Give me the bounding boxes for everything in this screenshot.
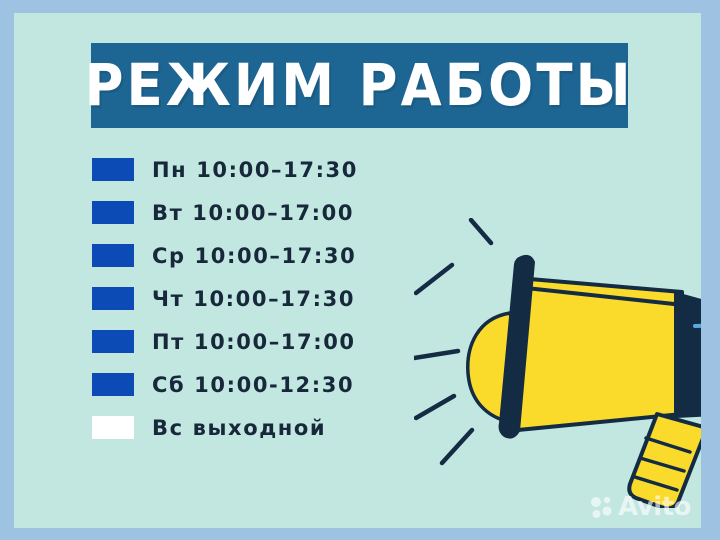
schedule-list: Пн 10:00–17:30 Вт 10:00–17:00 Ср 10:00–1… <box>92 148 422 449</box>
list-item: Пт 10:00–17:00 <box>92 320 422 363</box>
avito-watermark: Avito <box>590 494 691 520</box>
poster: РЕЖИМ РАБОТЫ Пн 10:00–17:30 Вт 10:00–17:… <box>0 0 720 540</box>
schedule-row-wednesday: Ср 10:00–17:30 <box>152 244 356 268</box>
day-marker-monday <box>92 158 134 181</box>
schedule-row-thursday: Чт 10:00–17:30 <box>152 287 355 311</box>
day-marker-friday <box>92 330 134 353</box>
list-item: Сб 10:00-12:30 <box>92 363 422 406</box>
list-item: Ср 10:00–17:30 <box>92 234 422 277</box>
megaphone-barrel <box>676 294 701 416</box>
day-marker-wednesday <box>92 244 134 267</box>
poster-card: РЕЖИМ РАБОТЫ Пн 10:00–17:30 Вт 10:00–17:… <box>14 13 701 528</box>
list-item: Вс выходной <box>92 406 422 449</box>
title-banner: РЕЖИМ РАБОТЫ <box>91 43 628 128</box>
list-item: Вт 10:00–17:00 <box>92 191 422 234</box>
day-marker-thursday <box>92 287 134 310</box>
avito-logo-icon <box>590 495 614 519</box>
schedule-row-friday: Пт 10:00–17:00 <box>152 330 356 354</box>
schedule-row-tuesday: Вт 10:00–17:00 <box>152 201 354 225</box>
list-item: Чт 10:00–17:30 <box>92 277 422 320</box>
avito-watermark-text: Avito <box>618 494 691 520</box>
schedule-row-saturday: Сб 10:00-12:30 <box>152 373 354 397</box>
schedule-row-monday: Пн 10:00–17:30 <box>152 158 358 182</box>
day-marker-sunday <box>92 416 134 439</box>
page-title: РЕЖИМ РАБОТЫ <box>85 56 634 114</box>
day-marker-saturday <box>92 373 134 396</box>
schedule-row-sunday: Вс выходной <box>152 416 326 440</box>
day-marker-tuesday <box>92 201 134 224</box>
list-item: Пн 10:00–17:30 <box>92 148 422 191</box>
megaphone-illustration <box>414 218 701 508</box>
